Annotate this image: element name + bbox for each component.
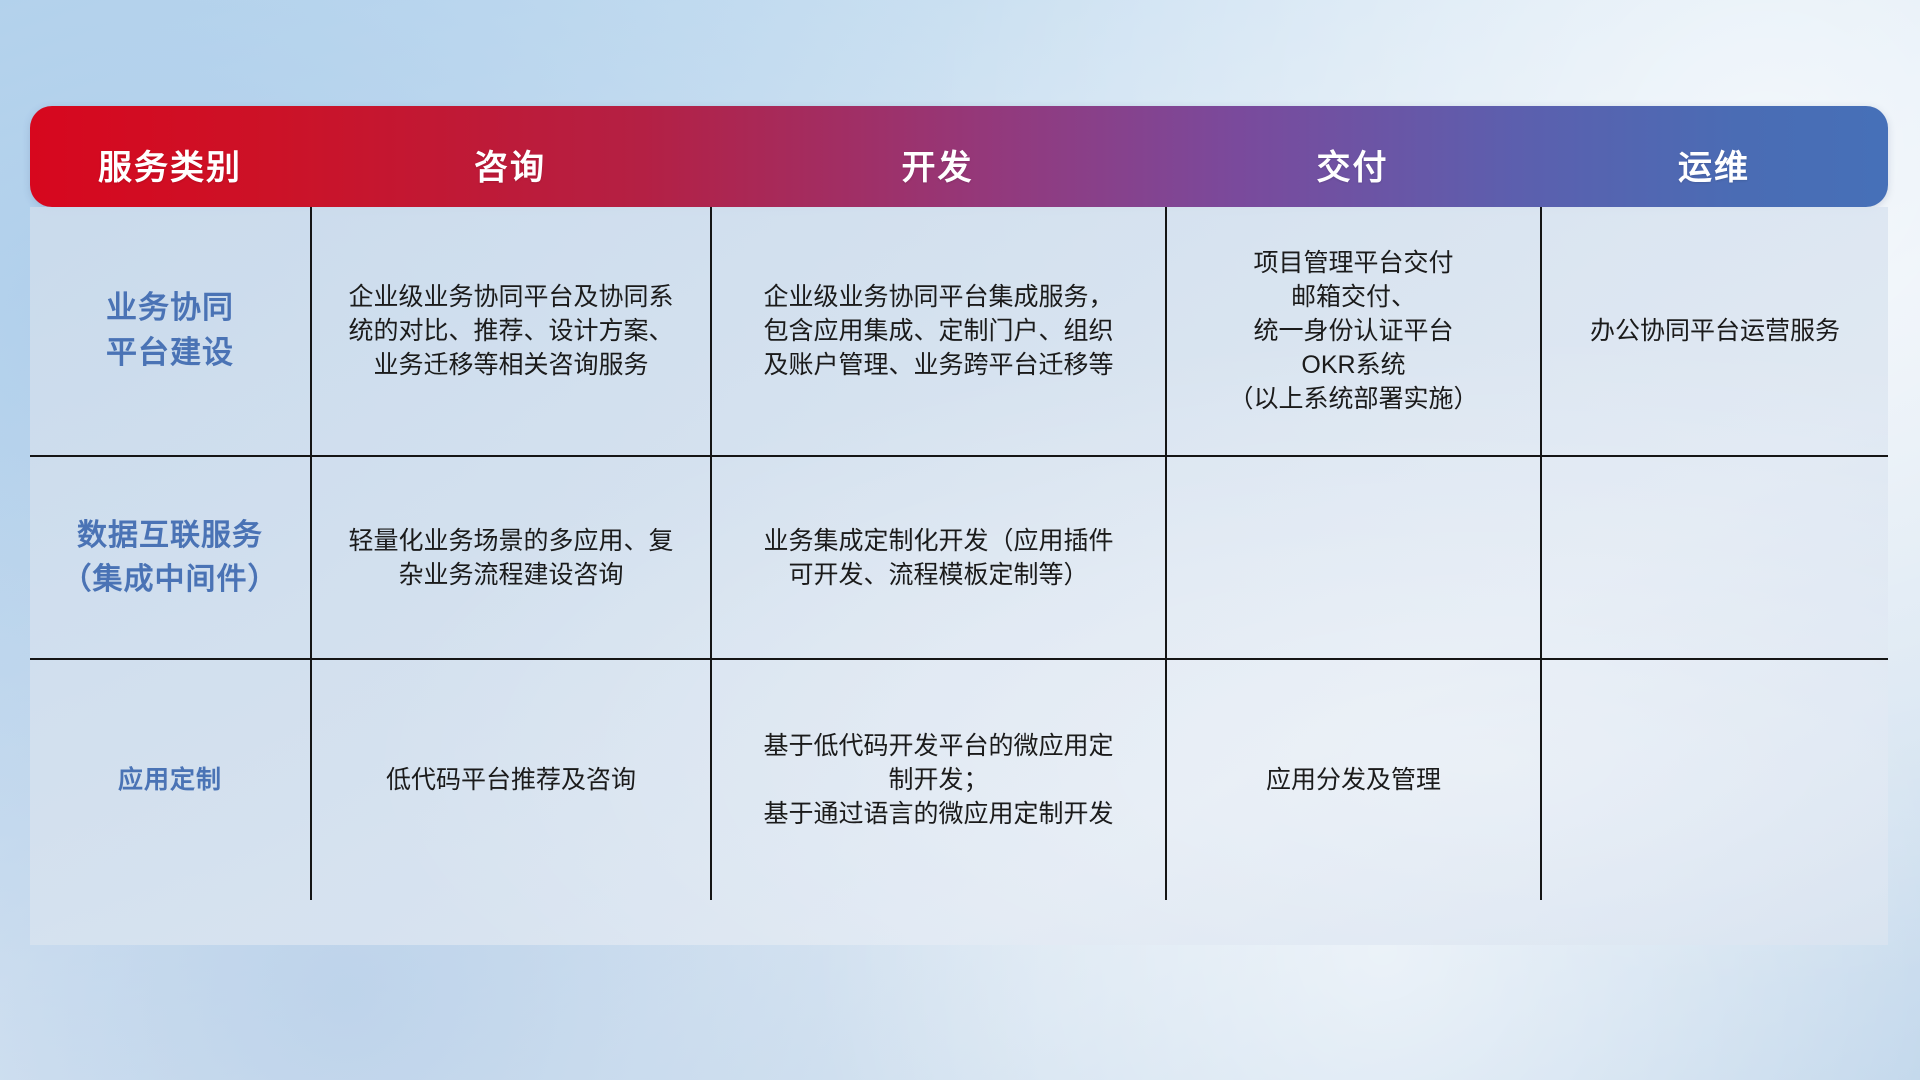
slide-canvas: 服务类别 咨询 开发 交付 运维 业务协同 平台建设 企业级业务协同平台及协同系… [0, 0, 1920, 1080]
row-category-label: 数据互联服务 （集成中间件） [30, 457, 310, 658]
row-category-label: 业务协同 平台建设 [30, 207, 310, 455]
table-header-bar: 服务类别 咨询 开发 交付 运维 [30, 106, 1888, 207]
table-row: 数据互联服务 （集成中间件） 轻量化业务场景的多应用、复 杂业务流程建设咨询 业… [30, 455, 1888, 660]
cell-consulting: 轻量化业务场景的多应用、复 杂业务流程建设咨询 [310, 457, 710, 658]
header-cell-development: 开发 [710, 151, 1165, 207]
cell-delivery [1165, 457, 1540, 658]
header-cell-category: 服务类别 [30, 151, 310, 207]
row-category-label: 应用定制 [30, 660, 310, 900]
table-row: 应用定制 低代码平台推荐及咨询 基于低代码开发平台的微应用定 制开发； 基于通过… [30, 660, 1888, 900]
header-cell-operations: 运维 [1540, 151, 1888, 207]
cell-development: 企业级业务协同平台集成服务， 包含应用集成、定制门户、组织 及账户管理、业务跨平… [710, 207, 1165, 455]
header-cell-delivery: 交付 [1165, 151, 1540, 207]
header-cell-consulting: 咨询 [310, 151, 710, 207]
cell-operations [1540, 660, 1888, 900]
table-row: 业务协同 平台建设 企业级业务协同平台及协同系 统的对比、推荐、设计方案、 业务… [30, 207, 1888, 455]
cell-operations: 办公协同平台运营服务 [1540, 207, 1888, 455]
cell-development: 业务集成定制化开发（应用插件 可开发、流程模板定制等） [710, 457, 1165, 658]
cell-consulting: 低代码平台推荐及咨询 [310, 660, 710, 900]
cell-delivery: 项目管理平台交付 邮箱交付、 统一身份认证平台 OKR系统 （以上系统部署实施） [1165, 207, 1540, 455]
cell-development: 基于低代码开发平台的微应用定 制开发； 基于通过语言的微应用定制开发 [710, 660, 1165, 900]
cell-delivery: 应用分发及管理 [1165, 660, 1540, 900]
cell-operations [1540, 457, 1888, 658]
table-body: 业务协同 平台建设 企业级业务协同平台及协同系 统的对比、推荐、设计方案、 业务… [30, 207, 1888, 945]
cell-consulting: 企业级业务协同平台及协同系 统的对比、推荐、设计方案、 业务迁移等相关咨询服务 [310, 207, 710, 455]
